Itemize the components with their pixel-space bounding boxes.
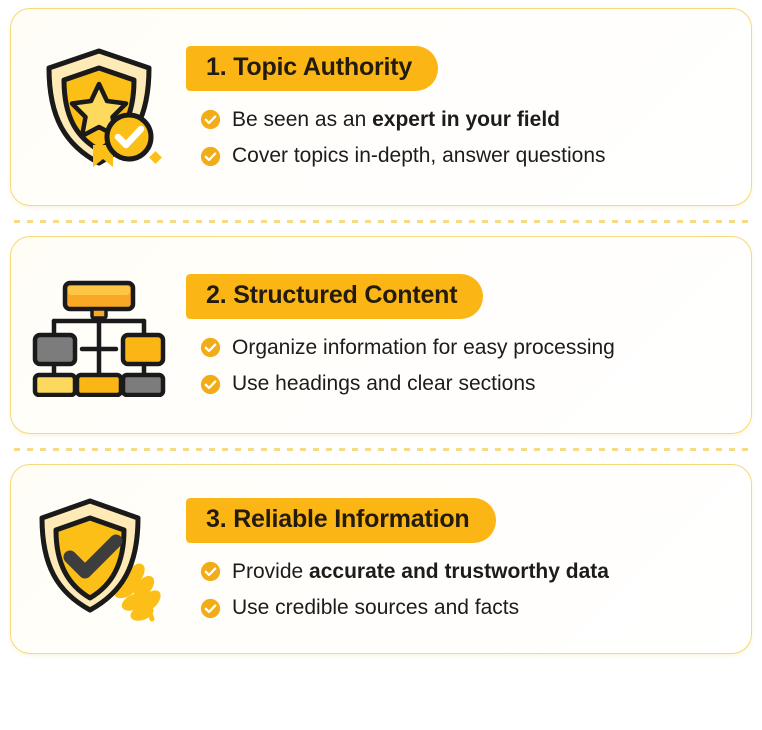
card-structured-content: 2. Structured Content Organize informati…: [10, 236, 752, 434]
card-reliable-information: 3. Reliable Information Provide accurate…: [10, 464, 752, 654]
bullet-text: Use credible sources and facts: [232, 596, 519, 620]
bullet-text: Organize information for easy processing: [232, 336, 615, 360]
card-content: 2. Structured Content Organize informati…: [186, 274, 751, 396]
bullet-text: Be seen as an expert in your field: [232, 108, 560, 132]
bullet-list: Organize information for easy processing…: [186, 336, 615, 396]
bullet-list: Be seen as an expert in your field Cover…: [186, 108, 606, 168]
bullet-list: Provide accurate and trustworthy data Us…: [186, 560, 609, 620]
section-divider: [14, 434, 748, 464]
list-item: Provide accurate and trustworthy data: [200, 560, 609, 584]
bullet-text: Cover topics in-depth, answer questions: [232, 144, 606, 168]
check-circle-icon: [200, 146, 221, 167]
bullet-text: Provide accurate and trustworthy data: [232, 560, 609, 584]
card-content: 3. Reliable Information Provide accurate…: [186, 498, 751, 620]
card-title: 1. Topic Authority: [186, 46, 438, 91]
check-circle-icon: [200, 109, 221, 130]
section-divider: [14, 206, 748, 236]
card-title: 2. Structured Content: [186, 274, 483, 319]
shield-star-verified-icon: [11, 9, 186, 205]
list-item: Organize information for easy processing: [200, 336, 615, 360]
list-item: Be seen as an expert in your field: [200, 108, 606, 132]
check-circle-icon: [200, 598, 221, 619]
card-topic-authority: 1. Topic Authority Be seen as an expert …: [10, 8, 752, 206]
check-circle-icon: [200, 337, 221, 358]
list-item: Use headings and clear sections: [200, 372, 615, 396]
org-chart-structure-icon: [11, 237, 186, 433]
list-item: Use credible sources and facts: [200, 596, 609, 620]
shield-checkmark-laurel-icon: [11, 465, 186, 653]
card-content: 1. Topic Authority Be seen as an expert …: [186, 46, 751, 168]
check-circle-icon: [200, 374, 221, 395]
bullet-text: Use headings and clear sections: [232, 372, 536, 396]
check-circle-icon: [200, 561, 221, 582]
list-item: Cover topics in-depth, answer questions: [200, 144, 606, 168]
infographic-root: 1. Topic Authority Be seen as an expert …: [0, 0, 762, 730]
card-title: 3. Reliable Information: [186, 498, 496, 543]
